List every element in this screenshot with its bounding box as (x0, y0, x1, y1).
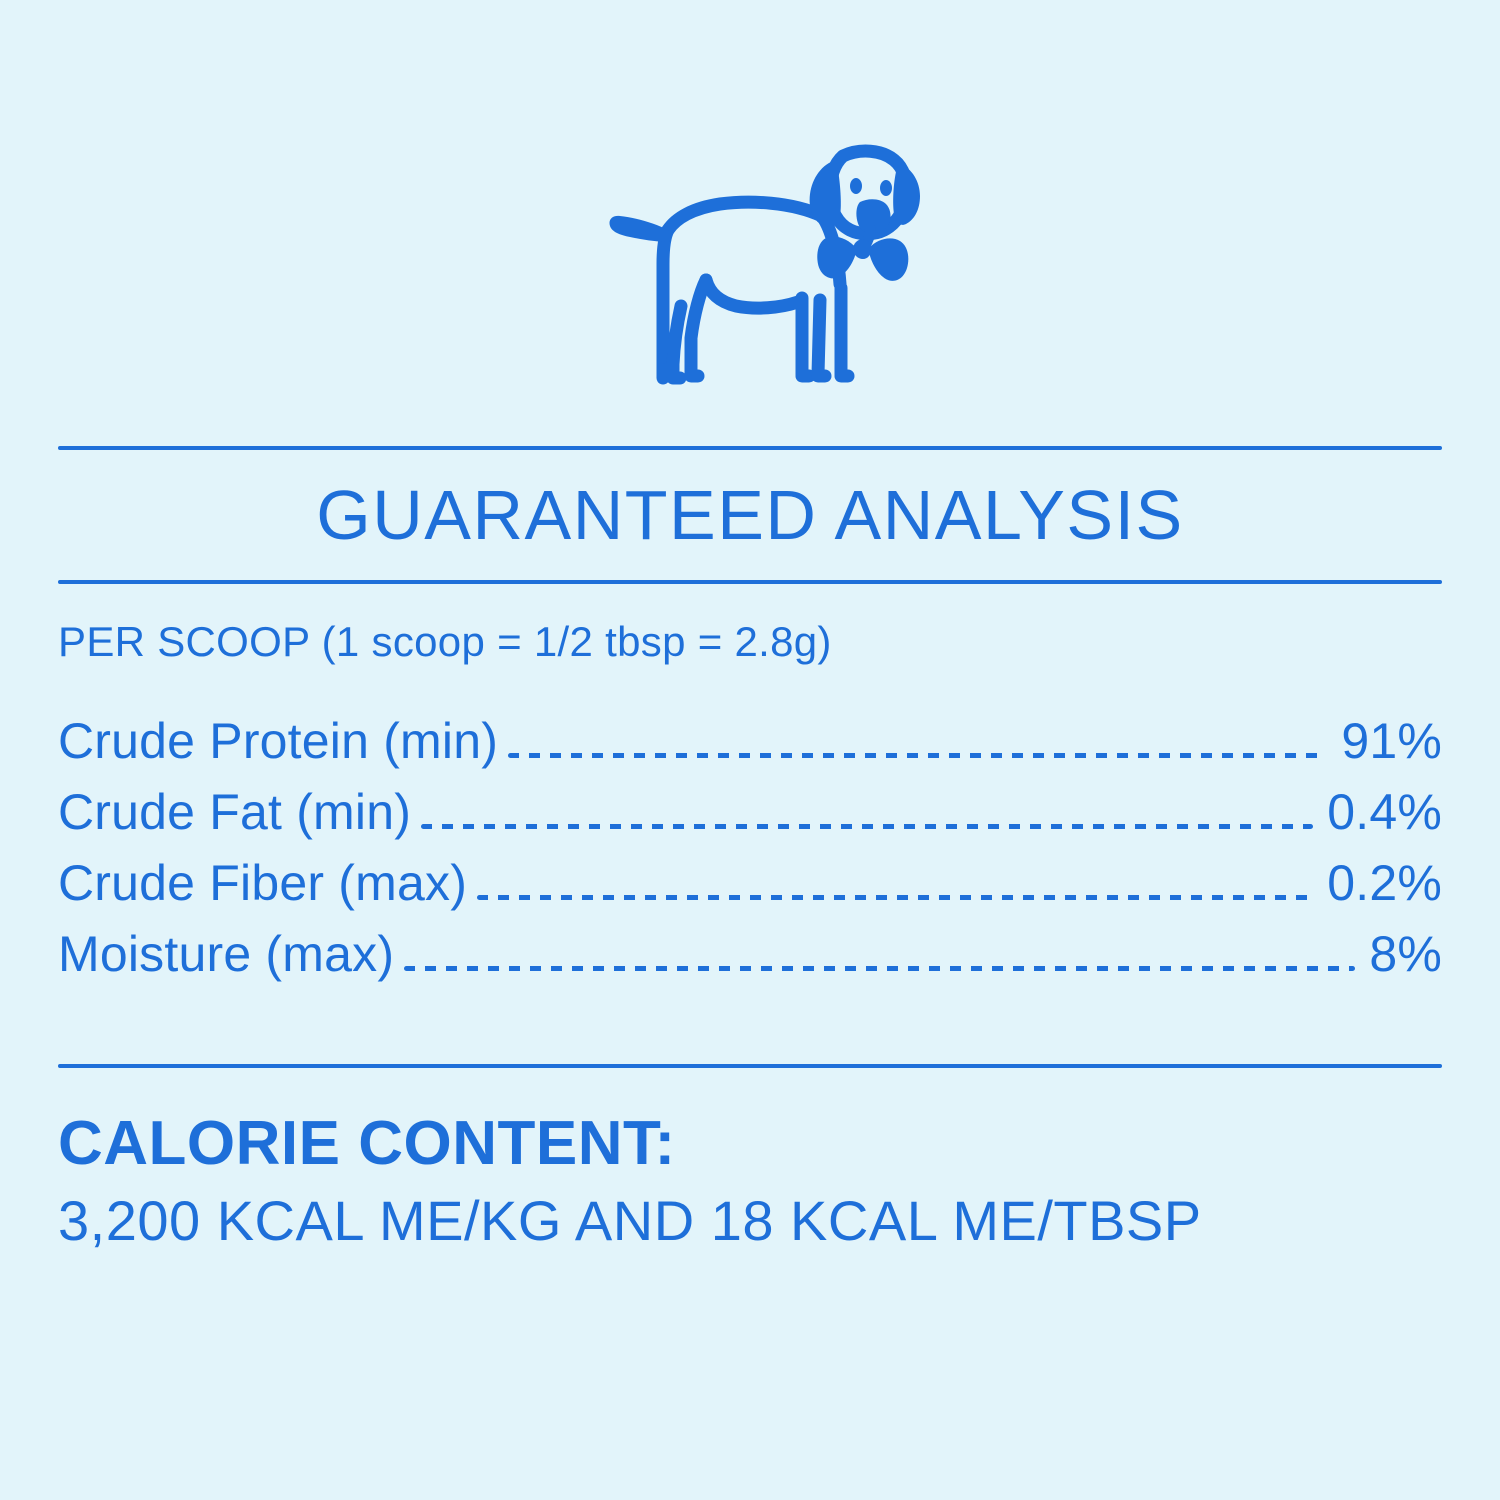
nutrition-label-panel: GUARANTEED ANALYSIS PER SCOOP (1 scoop =… (0, 0, 1500, 1500)
serving-size-note: PER SCOOP (1 scoop = 1/2 tbsp = 2.8g) (58, 616, 832, 668)
calorie-content-block: CALORIE CONTENT: 3,200 KCAL ME/KG AND 18… (58, 1104, 1442, 1258)
calorie-content-value: 3,200 KCAL ME/KG AND 18 KCAL ME/TBSP (58, 1184, 1442, 1258)
divider-top (58, 446, 1442, 450)
dot-leader (477, 899, 1313, 900)
divider-mid (58, 580, 1442, 584)
dog-with-bowtie-icon (0, 128, 1500, 428)
analysis-row-crude-fat: Crude Fat (min) 0.4% (58, 777, 1442, 848)
analysis-row-moisture: Moisture (max) 8% (58, 919, 1442, 990)
analysis-row-crude-protein: Crude Protein (min) 91% (58, 706, 1442, 777)
nutrient-label: Crude Protein (min) (58, 706, 498, 777)
page-title: GUARANTEED ANALYSIS (58, 472, 1442, 558)
nutrient-label: Crude Fiber (max) (58, 848, 467, 919)
nutrient-label: Crude Fat (min) (58, 777, 411, 848)
nutrient-label: Moisture (max) (58, 919, 394, 990)
nutrient-value: 91% (1341, 706, 1442, 777)
analysis-row-crude-fiber: Crude Fiber (max) 0.2% (58, 848, 1442, 919)
divider-bottom (58, 1064, 1442, 1068)
calorie-content-heading: CALORIE CONTENT: (58, 1104, 1442, 1184)
dot-leader (421, 828, 1313, 829)
nutrient-value: 0.4% (1327, 777, 1442, 848)
dot-leader (508, 757, 1327, 758)
dot-leader (404, 970, 1355, 971)
nutrient-value: 0.2% (1327, 848, 1442, 919)
nutrient-value: 8% (1369, 919, 1442, 990)
guaranteed-analysis-list: Crude Protein (min) 91% Crude Fat (min) … (58, 706, 1442, 990)
